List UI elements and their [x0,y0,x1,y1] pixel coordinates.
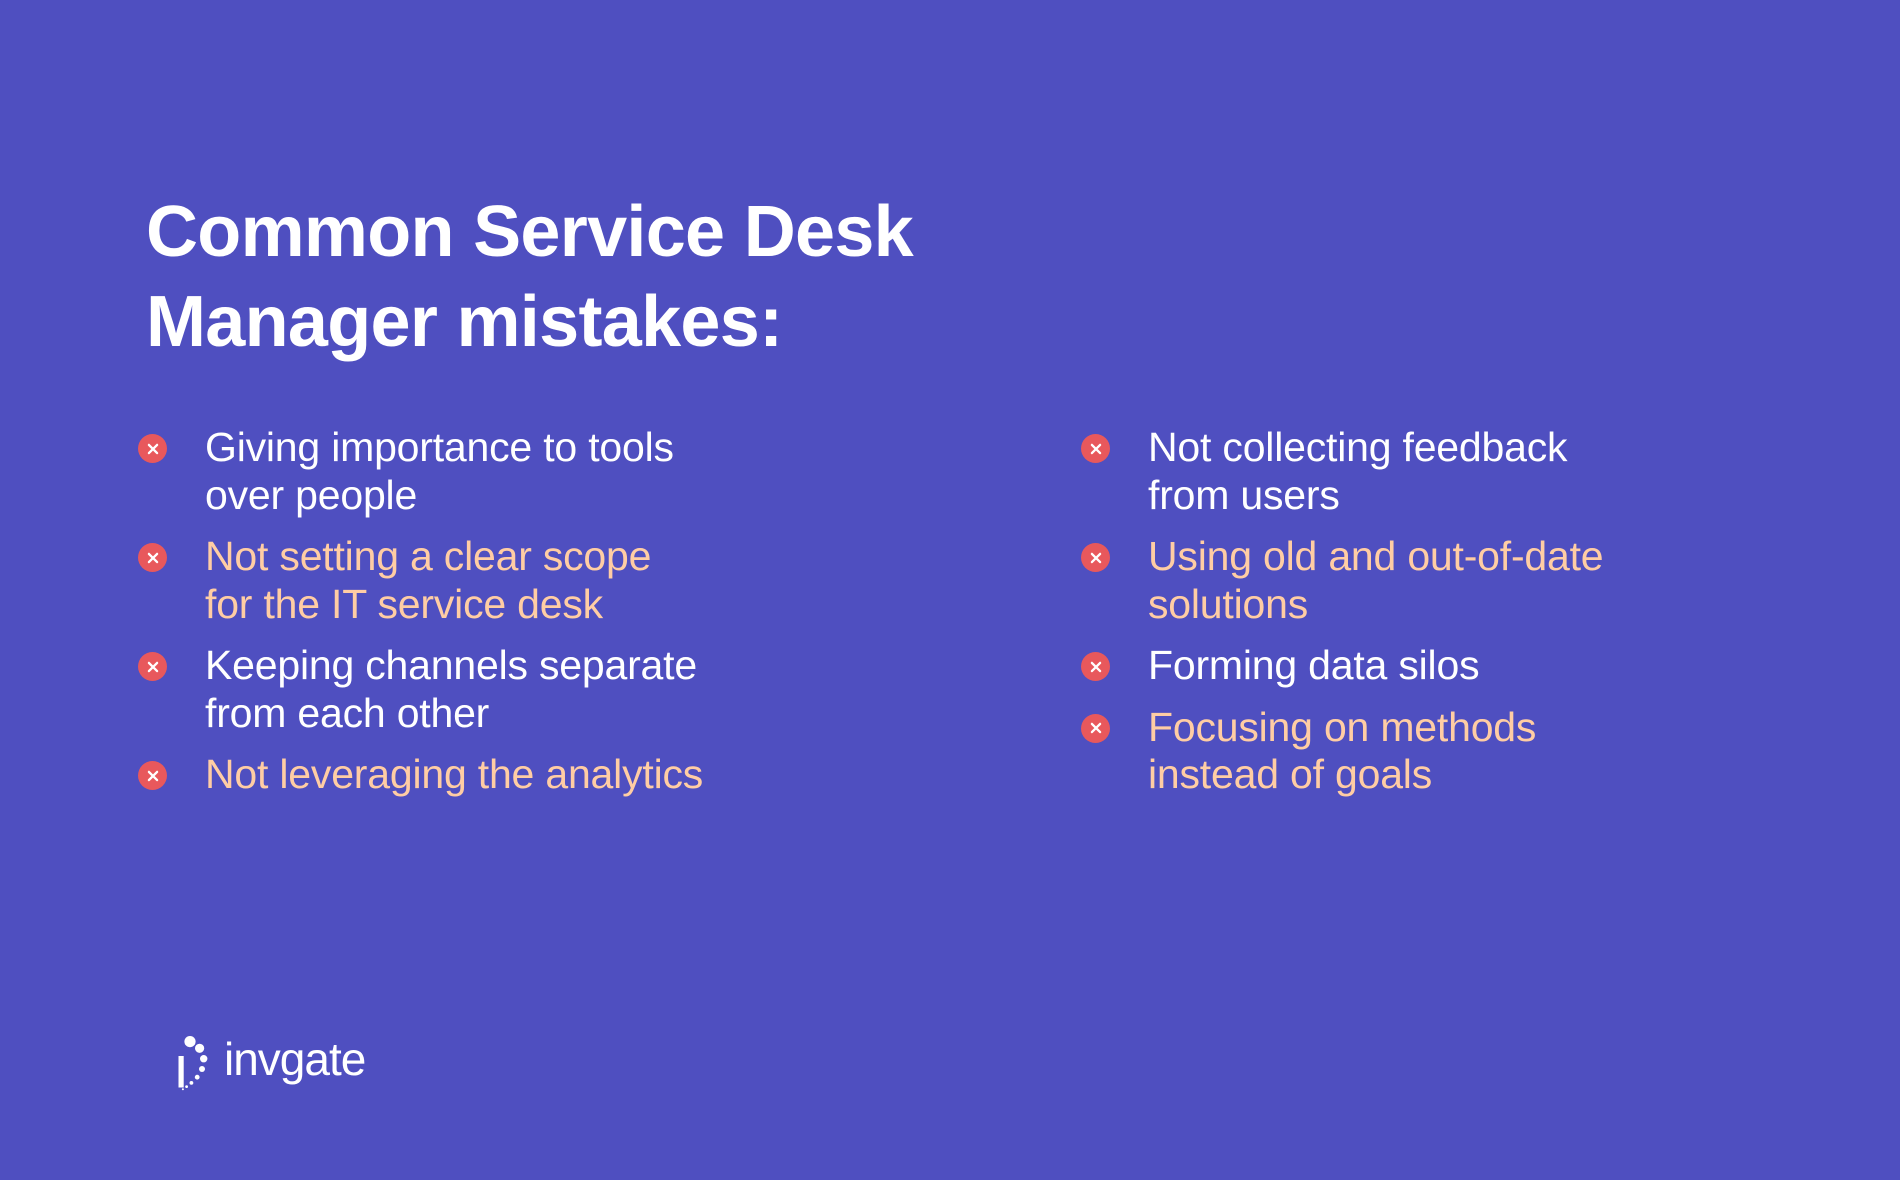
svg-text:invgate: invgate [224,1035,365,1085]
mistakes-column-right: Not collecting feedback from usersUsing … [1081,424,1841,813]
mistakes-column-left: Giving importance to tools over peopleNo… [138,424,898,813]
brand-wordmark: invgate [224,1035,370,1092]
list-item: Giving importance to tools over people [138,424,898,519]
list-item-label: Forming data silos [1148,642,1479,690]
slide-canvas: Common Service Desk Manager mistakes: Gi… [0,0,1900,1180]
list-item-label: Not leveraging the analytics [205,751,703,799]
list-item: Not collecting feedback from users [1081,424,1841,519]
x-circle-icon [1081,714,1110,743]
page-title: Common Service Desk Manager mistakes: [146,188,1246,367]
list-item: Forming data silos [1081,642,1841,690]
list-item-label: Not collecting feedback from users [1148,424,1567,519]
list-item-label: Not setting a clear scope for the IT ser… [205,533,651,628]
list-item-label: Focusing on methods instead of goals [1148,704,1536,799]
x-circle-icon [1081,543,1110,572]
list-item: Not setting a clear scope for the IT ser… [138,533,898,628]
list-item: Focusing on methods instead of goals [1081,704,1841,799]
list-item-label: Using old and out-of-date solutions [1148,533,1603,628]
x-circle-icon [138,543,167,572]
invgate-spiral-mark-icon [150,1032,212,1094]
list-item: Not leveraging the analytics [138,751,898,799]
list-item-label: Giving importance to tools over people [205,424,674,519]
list-item: Using old and out-of-date solutions [1081,533,1841,628]
x-circle-icon [138,434,167,463]
brand-logo: invgate [150,1032,370,1094]
list-item: Keeping channels separate from each othe… [138,642,898,737]
list-item-label: Keeping channels separate from each othe… [205,642,697,737]
page-title-line-2: Manager mistakes: [146,278,1246,367]
x-circle-icon [1081,652,1110,681]
page-title-line-1: Common Service Desk [146,188,1246,277]
x-circle-icon [1081,434,1110,463]
x-circle-icon [138,652,167,681]
x-circle-icon [138,761,167,790]
